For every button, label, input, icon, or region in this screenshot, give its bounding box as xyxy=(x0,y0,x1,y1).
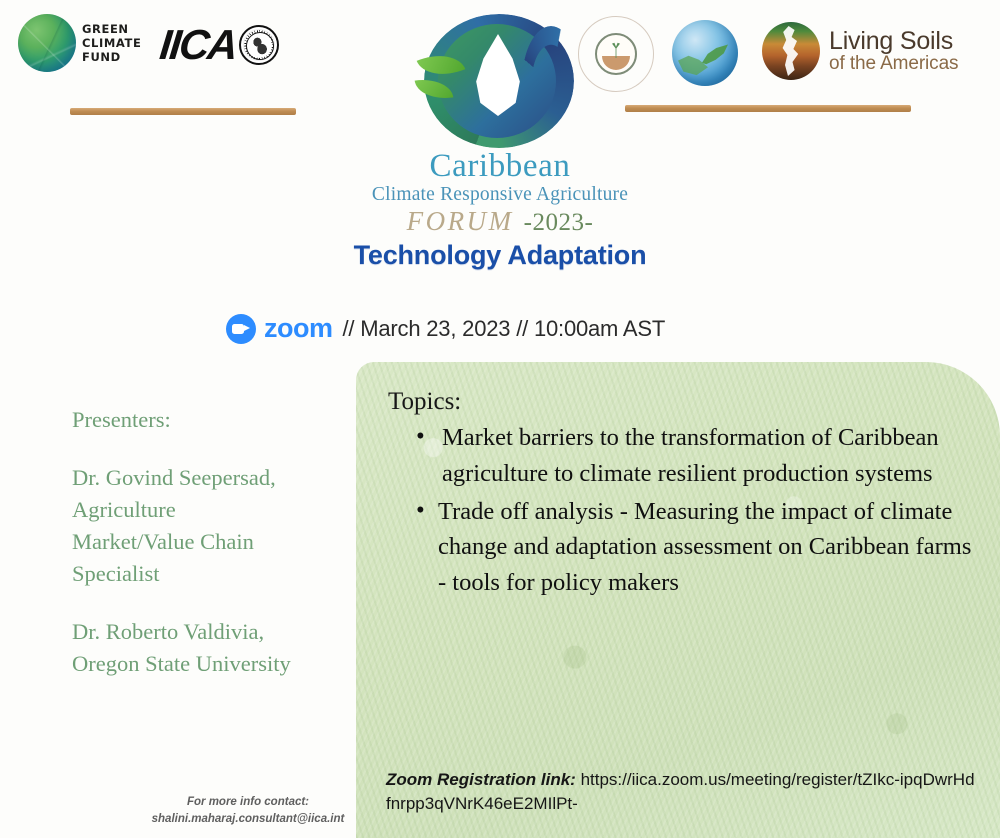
meeting-datetime: // March 23, 2023 // 10:00am AST xyxy=(343,316,666,342)
page-title: Technology Adaptation xyxy=(0,240,1000,271)
contact-prompt: For more info contact: xyxy=(148,794,348,811)
globe-icon xyxy=(672,20,738,86)
divider-left xyxy=(70,108,296,115)
iica-seal-icon xyxy=(239,25,279,65)
forum-logo-line-1: Caribbean xyxy=(368,148,632,185)
meeting-line: zoom // March 23, 2023 // 10:00am AST xyxy=(226,313,665,344)
zoom-wordmark: zoom xyxy=(264,313,333,344)
living-soils-wordmark: Living Soils of the Americas xyxy=(829,28,958,74)
living-soils-line-1: Living Soils xyxy=(829,28,958,54)
zoom-video-camera-icon xyxy=(226,314,256,344)
poster-canvas: GREEN CLIMATE FUND IICA Living xyxy=(0,0,1000,838)
landmass-shape xyxy=(678,54,708,76)
gcf-line-2: CLIMATE xyxy=(82,36,141,50)
presenters-heading: Presenters: xyxy=(72,404,332,436)
forum-logo-line-2: Climate Responsive Agriculture xyxy=(368,184,632,206)
leaf-icon xyxy=(702,44,728,66)
green-climate-fund-logo: GREEN CLIMATE FUND xyxy=(18,14,141,72)
topics-panel: Topics: Market barriers to the transform… xyxy=(356,362,1000,838)
presenter-1: Dr. Govind Seepersad, Agriculture Market… xyxy=(72,462,332,590)
presenters-section: Presenters: Dr. Govind Seepersad, Agricu… xyxy=(72,404,332,680)
registration-label: Zoom Registration link: xyxy=(386,770,576,789)
topics-content: Topics: Market barriers to the transform… xyxy=(388,388,974,603)
gcf-line-3: FUND xyxy=(82,50,141,64)
spacer xyxy=(72,436,332,462)
topic-item: Trade off analysis - Measuring the impac… xyxy=(416,494,974,601)
forum-emblem xyxy=(416,12,586,152)
green-climate-fund-wordmark: GREEN CLIMATE FUND xyxy=(82,22,141,64)
iica-wordmark: IICA xyxy=(158,24,238,66)
globe-icon xyxy=(18,14,76,72)
topics-list: Market barriers to the transformation of… xyxy=(388,420,974,601)
contact-block: For more info contact: shalini.maharaj.c… xyxy=(148,794,348,829)
living-soils-line-2: of the Americas xyxy=(829,54,958,74)
gcf-line-1: GREEN xyxy=(82,22,141,36)
topics-heading: Topics: xyxy=(388,388,974,416)
forum-word: FORUM xyxy=(407,206,514,237)
registration-block: Zoom Registration link: https://iica.zoo… xyxy=(386,768,976,816)
soil-layers-icon xyxy=(762,22,820,80)
cnfsm-globe-logo xyxy=(672,20,738,86)
contact-email[interactable]: shalini.maharaj.consultant@iica.int xyxy=(148,811,348,828)
forum-year: -2023- xyxy=(524,209,594,237)
swoosh-tail-icon xyxy=(522,26,580,138)
divider-right xyxy=(625,105,911,112)
iica-logo: IICA xyxy=(160,24,279,66)
forum-logo-line-3: FORUM -2023- xyxy=(368,206,632,237)
presenter-2: Dr. Roberto Valdivia, Oregon State Unive… xyxy=(72,616,332,680)
spacer xyxy=(72,590,332,616)
forum-logo: Caribbean Climate Responsive Agriculture… xyxy=(368,12,632,237)
living-soils-logo: Living Soils of the Americas xyxy=(762,22,958,80)
topic-item: Market barriers to the transformation of… xyxy=(416,420,974,492)
